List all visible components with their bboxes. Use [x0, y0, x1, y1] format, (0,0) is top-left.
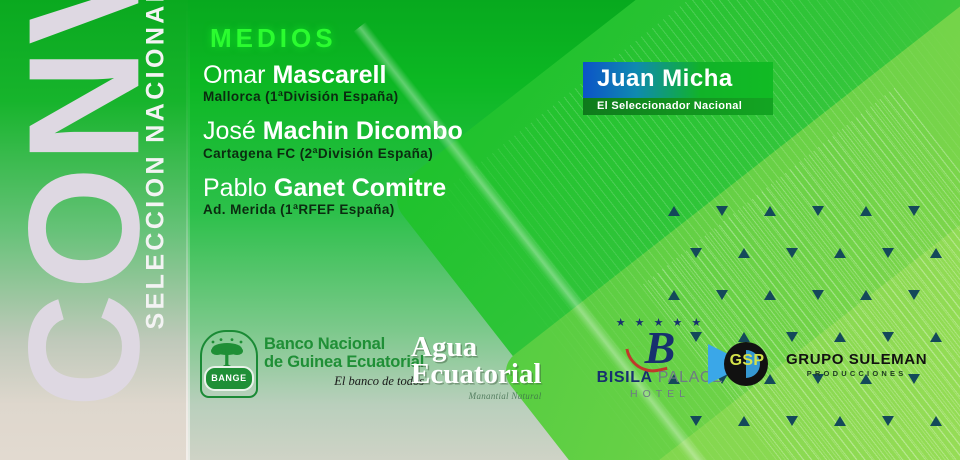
list-item: Pablo Ganet Comitre Ad. Merida (1ªRFEF E… [203, 175, 603, 217]
gsp-emblem: GSP [708, 336, 780, 392]
sponsor-logo-bange: BANGE Banco Nacional de Guinea Ecuatoria… [196, 328, 424, 396]
player-first-name: José [203, 117, 256, 145]
left-band-edge [186, 0, 190, 460]
player-list: Omar Mascarell Mallorca (1ªDivisión Espa… [203, 62, 603, 231]
agua-line-2: Ecuatorial [411, 361, 542, 388]
bange-text-block: Banco Nacional de Guinea Ecuatorial El b… [264, 335, 424, 390]
bange-line-2: de Guinea Ecuatorial [264, 353, 424, 371]
player-name: Omar Mascarell [203, 62, 603, 88]
gsp-mark-text: GSP [727, 352, 767, 370]
sponsor-row: BANGE Banco Nacional de Guinea Ecuatoria… [196, 318, 896, 418]
player-last-name: Ganet Comitre [274, 174, 446, 202]
player-name: José Machin Dicombo [203, 118, 603, 144]
coach-banner: Juan Micha El Seleccionador Nacional [583, 62, 773, 115]
vertical-subtitle: SELECCION NACIONAL [142, 0, 171, 330]
player-club: Mallorca (1ªDivisión España) [203, 89, 603, 104]
player-club: Cartagena FC (2ªDivisión España) [203, 146, 603, 161]
gsp-line-2: PRODUCCIONES [786, 369, 927, 378]
promo-graphic: CONV SELECCION NACIONAL MEDIOS Omar Masc… [0, 0, 960, 460]
agua-line-1: Agua [411, 334, 542, 361]
list-item: José Machin Dicombo Cartagena FC (2ªDivi… [203, 118, 603, 160]
sponsor-logo-grupo-suleman: GSP GRUPO SULEMAN PRODUCCIONES [708, 336, 927, 392]
list-item: Omar Mascarell Mallorca (1ªDivisión Espa… [203, 62, 603, 104]
section-heading: MEDIOS [210, 23, 337, 54]
sponsor-logo-agua-ecuatorial: Agua Ecuatorial Manantial Natural [411, 334, 542, 401]
coach-role: El Seleccionador Nacional [597, 100, 763, 112]
coach-name-bar: Juan Micha [583, 62, 773, 98]
player-first-name: Pablo [203, 174, 267, 202]
player-last-name: Machin Dicombo [263, 117, 463, 145]
bange-emblem: BANGE [196, 328, 258, 396]
coach-role-bar: El Seleccionador Nacional [583, 98, 773, 115]
bange-line-1: Banco Nacional [264, 335, 424, 353]
gsp-line-1: GRUPO SULEMAN [786, 351, 927, 368]
player-club: Ad. Merida (1ªRFEF España) [203, 202, 603, 217]
vertical-wordmark: CONV [12, 0, 157, 408]
agua-script-subtitle: Manantial Natural [411, 391, 542, 401]
bange-wordmark-pill: BANGE [204, 366, 254, 391]
bange-mark-text: BANGE [206, 368, 252, 389]
coach-name: Juan Micha [597, 65, 763, 93]
player-name: Pablo Ganet Comitre [203, 175, 603, 201]
gsp-text-block: GRUPO SULEMAN PRODUCCIONES [786, 351, 927, 378]
player-first-name: Omar [203, 61, 266, 89]
player-last-name: Mascarell [272, 61, 386, 89]
bange-tagline: El banco de todos [264, 374, 424, 389]
